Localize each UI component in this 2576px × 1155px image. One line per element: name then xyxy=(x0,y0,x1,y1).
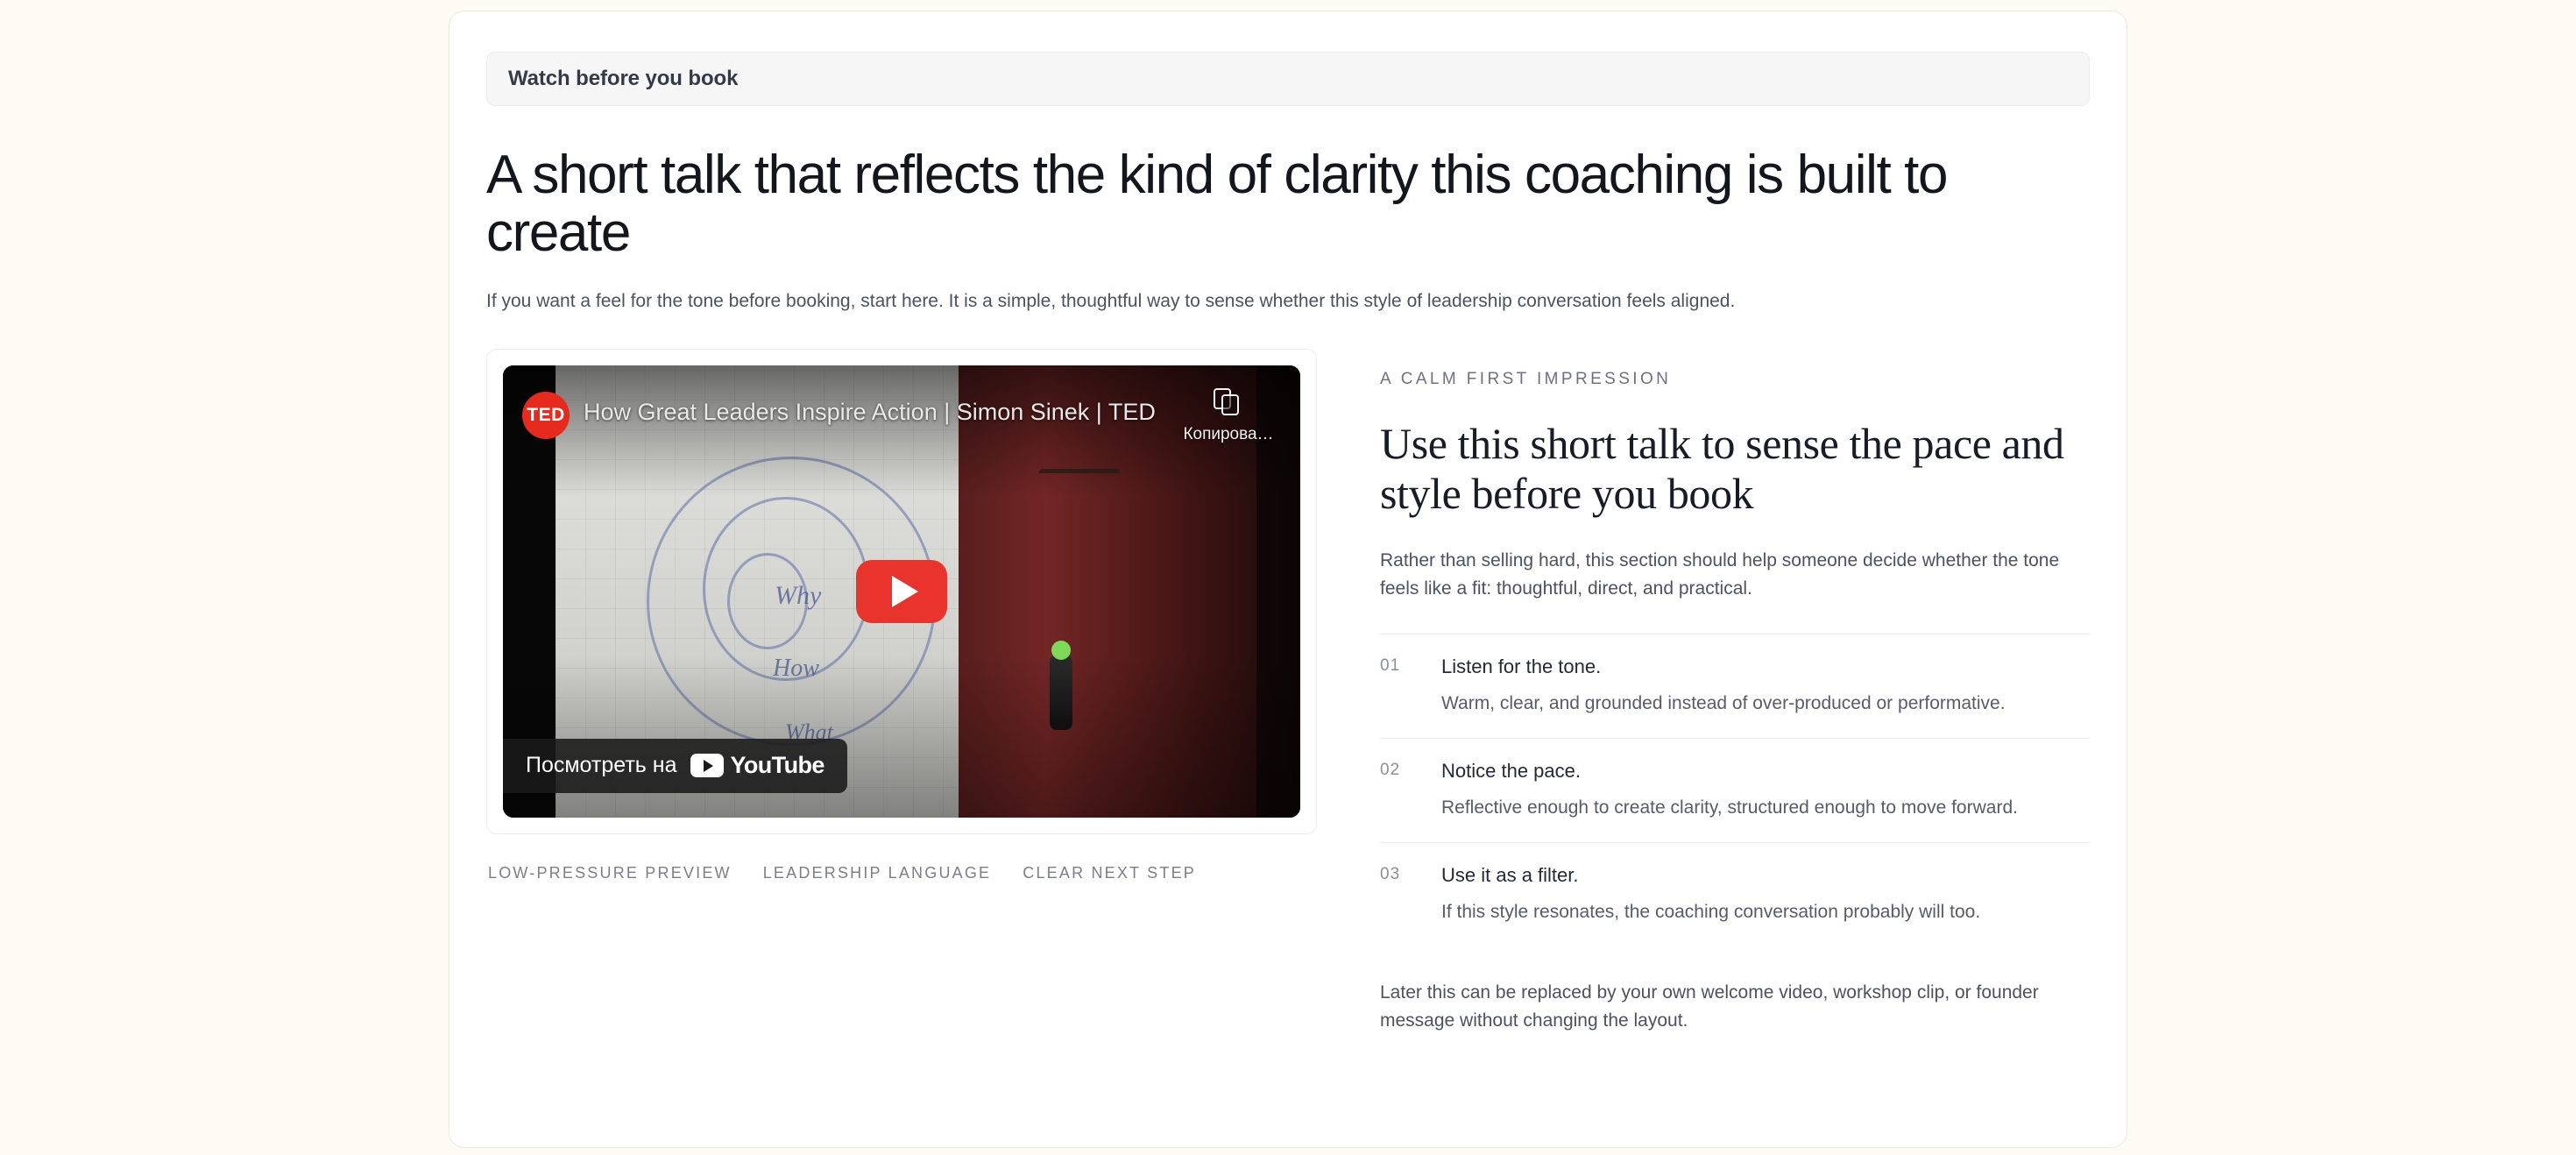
tag-item: CLEAR NEXT STEP xyxy=(1023,864,1196,882)
play-triangle-icon xyxy=(892,576,918,607)
aside-eyebrow: A CALM FIRST IMPRESSION xyxy=(1380,370,2090,389)
youtube-play-mark-icon xyxy=(690,754,724,777)
step-title: Listen for the tone. xyxy=(1441,654,2090,680)
tag-list: LOW-PRESSURE PREVIEW LEADERSHIP LANGUAGE… xyxy=(486,864,1317,882)
aside-column: A CALM FIRST IMPRESSION Use this short t… xyxy=(1380,349,2090,1036)
page-title: A short talk that reflects the kind of c… xyxy=(486,146,2090,261)
aside-closing-note: Later this can be replaced by your own w… xyxy=(1380,979,2090,1036)
watch-on-youtube-button[interactable]: Посмотреть на YouTube xyxy=(503,739,847,793)
content-card: Watch before you book A short talk that … xyxy=(449,11,2127,1148)
copy-link-label: Копирова… xyxy=(1183,425,1273,444)
step-description: Warm, clear, and grounded instead of ove… xyxy=(1441,690,2090,718)
copy-link-button[interactable]: Копирова… xyxy=(1176,388,1281,444)
step-number: 03 xyxy=(1380,862,1403,925)
step-number: 01 xyxy=(1380,654,1403,717)
page-root: Watch before you book A short talk that … xyxy=(0,0,2576,1155)
step-number: 02 xyxy=(1380,758,1403,821)
youtube-logo-icon: YouTube xyxy=(690,752,824,779)
section-header-bar: Watch before you book xyxy=(486,52,2090,106)
step-description: If this style resonates, the coaching co… xyxy=(1441,898,2090,926)
tag-item: LEADERSHIP LANGUAGE xyxy=(763,864,992,882)
section-title: Watch before you book xyxy=(508,67,738,91)
steps-list: 01 Listen for the tone. Warm, clear, and… xyxy=(1380,634,2090,947)
aside-title: Use this short talk to sense the pace an… xyxy=(1380,419,2090,519)
list-item: 01 Listen for the tone. Warm, clear, and… xyxy=(1380,634,2090,738)
list-item: 02 Notice the pace. Reflective enough to… xyxy=(1380,738,2090,842)
aside-body: Rather than selling hard, this section s… xyxy=(1380,547,2090,604)
watch-on-youtube-label: Посмотреть на xyxy=(526,753,676,778)
list-item: 03 Use it as a filter. If this style res… xyxy=(1380,842,2090,946)
content-columns: Why How What TED How Great Leaders Inspi… xyxy=(486,349,2090,1036)
youtube-wordmark: YouTube xyxy=(730,752,824,779)
step-title: Notice the pace. xyxy=(1441,758,2090,784)
page-subtitle: If you want a feel for the tone before b… xyxy=(486,287,2090,315)
video-frame: Why How What TED How Great Leaders Inspi… xyxy=(486,349,1317,834)
video-player[interactable]: Why How What TED How Great Leaders Inspi… xyxy=(503,365,1300,818)
play-button-icon[interactable] xyxy=(856,560,947,623)
step-title: Use it as a filter. xyxy=(1441,862,2090,889)
video-title[interactable]: How Great Leaders Inspire Action | Simon… xyxy=(584,399,1156,426)
tag-item: LOW-PRESSURE PREVIEW xyxy=(488,864,732,882)
video-column: Why How What TED How Great Leaders Inspi… xyxy=(486,349,1317,1036)
step-description: Reflective enough to create clarity, str… xyxy=(1441,794,2090,822)
ted-logo-icon[interactable]: TED xyxy=(522,392,570,439)
copy-link-icon xyxy=(1214,388,1243,418)
